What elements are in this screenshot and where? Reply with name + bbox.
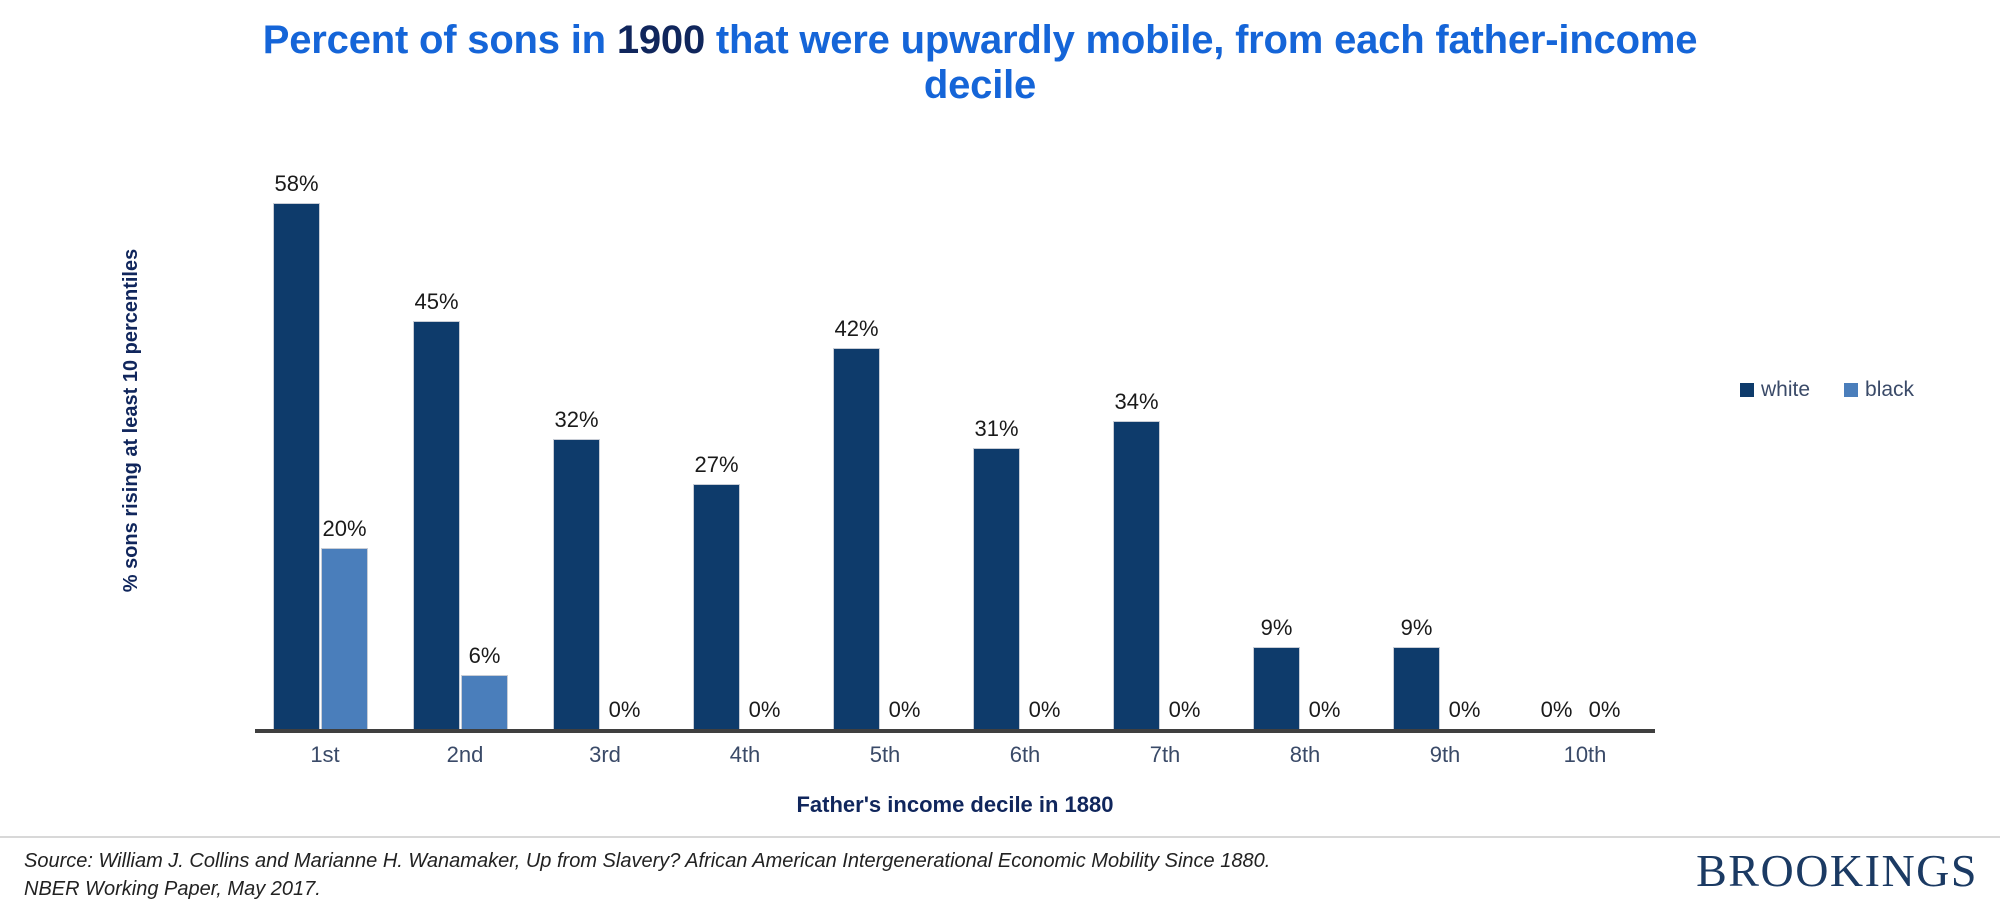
bar-white-6th[interactable]: [973, 448, 1020, 729]
bar-label-white-5th: 42%: [833, 316, 880, 342]
bar-group: 45%6%: [413, 130, 508, 729]
legend-swatch-icon-white: [1740, 383, 1754, 397]
x-tick-10th: 10th: [1515, 742, 1655, 768]
plot-area: 58%20%45%6%32%0%27%0%42%0%31%0%34%0%9%0%…: [255, 130, 1655, 733]
bar-group: 31%0%: [973, 130, 1068, 729]
x-tick-5th: 5th: [815, 742, 955, 768]
page-title: Percent of sons in 1900 that were upward…: [230, 18, 1730, 108]
legend-label-white: white: [1761, 378, 1810, 402]
bar-white-4th[interactable]: [693, 484, 740, 729]
legend-item-black[interactable]: black: [1844, 378, 1914, 402]
x-tick-1st: 1st: [255, 742, 395, 768]
bar-group: 32%0%: [553, 130, 648, 729]
x-tick-8th: 8th: [1235, 742, 1375, 768]
footer-divider: [0, 836, 2000, 838]
x-tick-3rd: 3rd: [535, 742, 675, 768]
brookings-logo: BROOKINGS: [1696, 848, 1978, 894]
title-highlight-year: 1900: [617, 18, 705, 62]
bar-label-black-3rd: 0%: [601, 697, 648, 723]
legend-item-white[interactable]: white: [1740, 378, 1810, 402]
x-tick-2nd: 2nd: [395, 742, 535, 768]
bar-white-1st[interactable]: [273, 203, 320, 729]
bar-label-black-2nd: 6%: [461, 643, 508, 669]
title-prefix: Percent of sons in: [263, 18, 617, 62]
bar-label-black-8th: 0%: [1301, 697, 1348, 723]
y-axis-title: % sons rising at least 10 percentiles: [112, 180, 152, 660]
y-axis-title-text: % sons rising at least 10 percentiles: [121, 248, 144, 591]
x-axis-title: Father's income decile in 1880: [255, 792, 1655, 818]
legend-label-black: black: [1865, 378, 1914, 402]
bar-white-9th[interactable]: [1393, 647, 1440, 729]
x-tick-6th: 6th: [955, 742, 1095, 768]
bar-group: 9%0%: [1253, 130, 1348, 729]
bar-label-white-7th: 34%: [1113, 389, 1160, 415]
bar-white-8th[interactable]: [1253, 647, 1300, 729]
legend: white black: [1740, 378, 1914, 402]
bar-white-3rd[interactable]: [553, 439, 600, 729]
x-tick-9th: 9th: [1375, 742, 1515, 768]
bar-label-white-8th: 9%: [1253, 615, 1300, 641]
bar-label-black-9th: 0%: [1441, 697, 1488, 723]
source-note: Source: William J. Collins and Marianne …: [24, 848, 1324, 903]
bar-group: 58%20%: [273, 130, 368, 729]
x-axis-line: [255, 729, 1655, 733]
bar-group: 9%0%: [1393, 130, 1488, 729]
bar-black-2nd[interactable]: [461, 675, 508, 729]
bar-label-white-9th: 9%: [1393, 615, 1440, 641]
legend-swatch-icon-black: [1844, 383, 1858, 397]
bar-white-2nd[interactable]: [413, 321, 460, 729]
bar-label-black-10th: 0%: [1581, 697, 1628, 723]
bar-group: 42%0%: [833, 130, 928, 729]
bar-label-white-2nd: 45%: [413, 289, 460, 315]
bar-label-white-4th: 27%: [693, 452, 740, 478]
bar-white-7th[interactable]: [1113, 421, 1160, 729]
bar-label-white-3rd: 32%: [553, 407, 600, 433]
bar-label-white-1st: 58%: [273, 171, 320, 197]
bar-group: 0%0%: [1533, 130, 1628, 729]
x-axis-tick-labels: 1st2nd3rd4th5th6th7th8th9th10th: [255, 742, 1655, 782]
bar-label-black-4th: 0%: [741, 697, 788, 723]
bar-group: 34%0%: [1113, 130, 1208, 729]
bar-label-black-1st: 20%: [321, 516, 368, 542]
bar-white-5th[interactable]: [833, 348, 880, 729]
x-tick-7th: 7th: [1095, 742, 1235, 768]
bar-label-black-5th: 0%: [881, 697, 928, 723]
bar-group: 27%0%: [693, 130, 788, 729]
bar-label-black-6th: 0%: [1021, 697, 1068, 723]
bar-label-white-10th: 0%: [1533, 697, 1580, 723]
bar-label-white-6th: 31%: [973, 416, 1020, 442]
x-tick-4th: 4th: [675, 742, 815, 768]
bar-black-1st[interactable]: [321, 548, 368, 729]
bar-label-black-7th: 0%: [1161, 697, 1208, 723]
title-suffix: that were upwardly mobile, from each fat…: [705, 18, 1697, 107]
chart-page: Percent of sons in 1900 that were upward…: [0, 0, 2000, 910]
